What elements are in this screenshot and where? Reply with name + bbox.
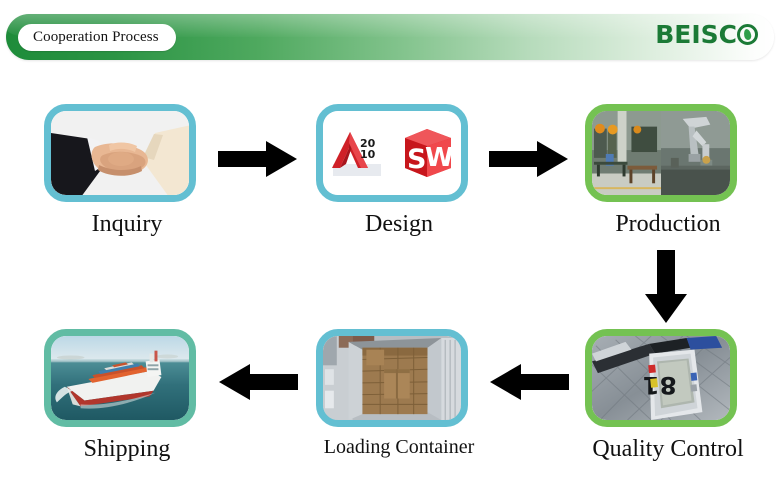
step-shipping-label: Shipping <box>44 436 210 463</box>
step-quality-control-thumbnail[interactable]: 81 <box>585 329 737 427</box>
solidworks-logo-icon: S W <box>397 124 457 182</box>
step-inquiry-label: Inquiry <box>44 211 210 238</box>
arrow-inquiry-to-design <box>218 140 298 178</box>
cad-software-logos-icon: 20 10 S W <box>323 111 461 195</box>
arrow-production-to-quality-control <box>644 250 688 324</box>
arrow-loading-container-to-shipping <box>218 363 298 401</box>
page-title-pill: Cooperation Process <box>18 24 176 51</box>
step-design[interactable]: 20 10 S W Design <box>316 104 482 238</box>
step-loading-container-label: Loading Container <box>316 436 482 459</box>
step-production[interactable]: Production <box>585 104 751 238</box>
arrow-design-to-production <box>489 140 569 178</box>
step-design-thumbnail[interactable]: 20 10 S W <box>316 104 468 202</box>
autocad-logo-icon: 20 10 <box>328 124 386 182</box>
step-production-thumbnail[interactable] <box>585 104 737 202</box>
brand-logo: BEISC <box>655 22 758 47</box>
step-design-label: Design <box>316 211 482 238</box>
step-inquiry[interactable]: Inquiry <box>44 104 210 238</box>
svg-text:W: W <box>425 143 454 173</box>
arrow-quality-control-to-loading-container <box>489 363 569 401</box>
step-quality-control-label: Quality Control <box>585 436 751 463</box>
step-loading-container[interactable]: Loading Container <box>316 329 482 459</box>
digital-caliper-photo-icon: 81 <box>592 336 730 420</box>
cargo-ship-photo-icon <box>51 336 189 420</box>
step-shipping-thumbnail[interactable] <box>44 329 196 427</box>
handshake-photo-icon <box>51 111 189 195</box>
cooperation-process-infographic: Cooperation Process BEISC <box>0 0 780 480</box>
step-loading-container-thumbnail[interactable] <box>316 329 468 427</box>
svg-text:S: S <box>407 144 426 175</box>
page-title: Cooperation Process <box>33 29 159 46</box>
step-shipping[interactable]: Shipping <box>44 329 210 463</box>
factory-workshop-photo-icon <box>592 111 730 195</box>
svg-text:10: 10 <box>360 148 376 161</box>
step-quality-control[interactable]: 81 Quality Control <box>585 329 751 463</box>
brand-logo-text: BEISC <box>655 22 737 47</box>
container-loading-photo-icon <box>323 336 461 420</box>
step-production-label: Production <box>585 211 751 238</box>
step-inquiry-thumbnail[interactable] <box>44 104 196 202</box>
brand-leaf-o-icon <box>737 23 758 46</box>
svg-text:81: 81 <box>642 371 676 400</box>
